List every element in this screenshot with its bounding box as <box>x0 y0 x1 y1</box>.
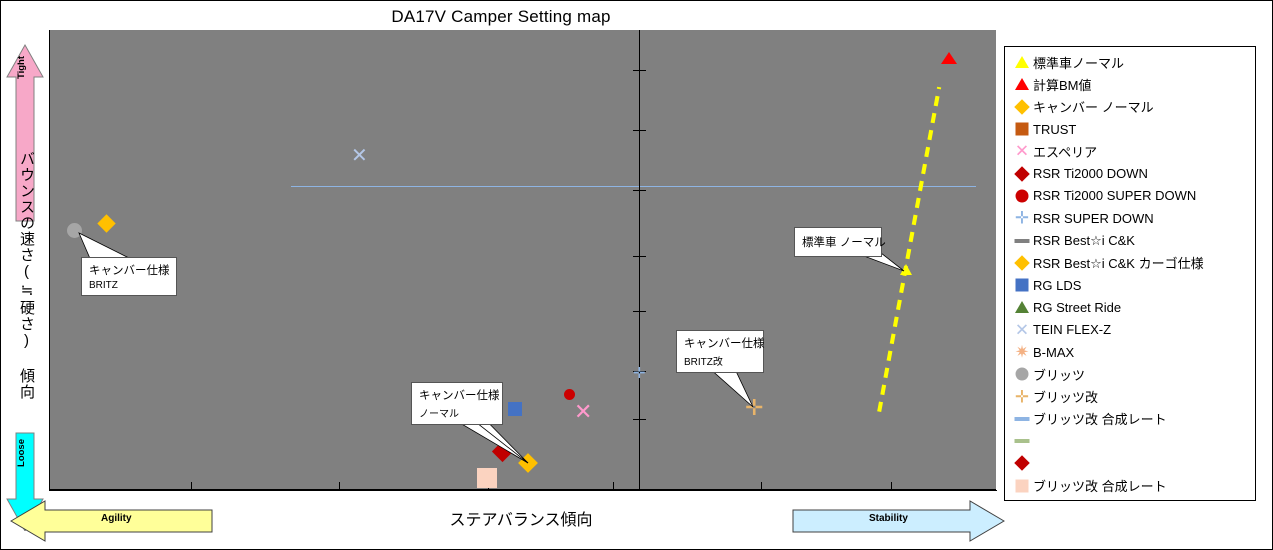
legend-item-label: RSR Ti2000 SUPER DOWN <box>1033 188 1196 203</box>
square-icon <box>1016 279 1029 292</box>
legend-item[interactable]: ブリッツ改 合成レート <box>1011 475 1255 497</box>
chart-root: DA17V Camper Setting map ✕ ✕ ✛ ✛ <box>0 0 1273 550</box>
legend-item[interactable]: ✛RSR SUPER DOWN <box>1011 207 1255 229</box>
legend-item[interactable]: ✛ブリッツ改 <box>1011 385 1255 407</box>
diamond-icon <box>1014 99 1030 115</box>
triangle-icon <box>1015 78 1029 90</box>
marker-standard-car-normal <box>900 264 912 275</box>
legend-marker-icon: ✕ <box>1011 320 1033 340</box>
y-axis-tight-label: Tight <box>16 56 27 79</box>
x-axis-stability-label: Stability <box>869 513 908 524</box>
legend-item-label: エスペリア <box>1033 142 1097 161</box>
legend-item-label: キャンバー ノーマル <box>1033 97 1154 116</box>
y-tick <box>633 130 646 131</box>
legend-item[interactable]: RSR Ti2000 SUPER DOWN <box>1011 185 1255 207</box>
marker-blitz-kai: ✛ <box>745 397 763 419</box>
y-tick <box>633 190 646 191</box>
legend-item-label: ブリッツ改 <box>1033 387 1098 406</box>
legend-marker-icon <box>1011 253 1033 273</box>
circle-icon <box>1016 189 1029 202</box>
marker-rg-lds <box>508 402 522 416</box>
legend-marker-icon <box>1011 186 1033 206</box>
legend-item[interactable]: キャンバー ノーマル <box>1011 96 1255 118</box>
dash-icon <box>1015 439 1030 443</box>
square-icon <box>1016 123 1029 136</box>
y-tick <box>633 419 646 420</box>
legend-marker-icon <box>1011 164 1033 184</box>
page-title: DA17V Camper Setting map <box>1 7 1001 27</box>
legend-item[interactable]: RSR Ti2000 DOWN <box>1011 162 1255 184</box>
y-tick <box>633 70 646 71</box>
legend-item-label: RSR SUPER DOWN <box>1033 211 1154 226</box>
legend-item-label: B-MAX <box>1033 345 1074 360</box>
y-axis-loose-label: Loose <box>16 439 27 467</box>
plus-icon: ✛ <box>1015 210 1029 227</box>
callout-line-2: BRITZ <box>89 280 170 291</box>
triangle-icon <box>1015 56 1029 68</box>
legend-marker-icon <box>1011 476 1033 496</box>
y-axis-title: バウンスの速さ(≒硬さ) 傾向 <box>7 151 37 400</box>
legend-item-label: TRUST <box>1033 122 1076 137</box>
legend-marker-icon <box>1011 275 1033 295</box>
callout-normal: キャンバー仕様 ノーマル <box>411 382 503 425</box>
callout-standard-car: 標準車 ノーマル <box>794 227 882 257</box>
legend-marker-icon: ✛ <box>1011 387 1033 407</box>
x-tick <box>191 482 192 491</box>
marker-tein-flex-z: ✕ <box>351 146 368 166</box>
legend-marker-icon <box>1011 453 1033 473</box>
legend-marker-icon <box>1011 74 1033 94</box>
marker-blitz-kai-gosei-rate <box>477 468 497 488</box>
x-tick <box>339 482 340 491</box>
x-axis-title: ステアバランス傾向 <box>381 506 661 530</box>
legend-item-label: ブリッツ <box>1033 365 1085 384</box>
callout-line-1: キャンバー仕様 <box>684 335 757 351</box>
legend-item[interactable]: ブリッツ <box>1011 363 1255 385</box>
legend-marker-icon: ✛ <box>1011 208 1033 228</box>
callout-britz: キャンバー仕様 BRITZ <box>81 257 177 296</box>
x-icon: ✕ <box>1015 321 1029 338</box>
legend-marker-icon: ✕ <box>1011 141 1033 161</box>
diamond-icon <box>1014 255 1030 271</box>
x-tick <box>613 482 614 491</box>
legend-item[interactable]: RSR Best☆i C&K カーゴ仕様 <box>1011 252 1255 274</box>
legend-marker-icon: ✷ <box>1011 342 1033 362</box>
callout-line-2: ノーマル <box>419 405 496 420</box>
legend-item[interactable]: ✕エスペリア <box>1011 140 1255 162</box>
marker-rsr-super-down: ✛ <box>633 366 646 381</box>
callout-britz-kai: キャンバー仕様 BRITZ改 <box>676 330 764 373</box>
x-icon: ✕ <box>1015 143 1029 160</box>
legend-marker-icon <box>1011 52 1033 72</box>
legend-marker-icon <box>1011 364 1033 384</box>
legend-item[interactable]: 標準車ノーマル <box>1011 51 1255 73</box>
legend-item[interactable] <box>1011 452 1255 474</box>
y-axis-line <box>639 30 640 491</box>
legend-item-label: TEIN FLEX-Z <box>1033 322 1111 337</box>
square-icon <box>1016 479 1029 492</box>
callout-line-1: キャンバー仕様 <box>89 262 170 278</box>
legend: 標準車ノーマル計算BM値キャンバー ノーマルTRUST✕エスペリアRSR Ti2… <box>1004 46 1256 501</box>
legend-item-label: 計算BM値 <box>1033 75 1092 94</box>
legend-marker-icon <box>1011 97 1033 117</box>
callout-line-2: BRITZ改 <box>684 353 757 368</box>
diamond-icon <box>1014 456 1030 472</box>
legend-item[interactable]: TRUST <box>1011 118 1255 140</box>
legend-item-label: RSR Best☆i C&K <box>1033 233 1135 249</box>
legend-item-label: ブリッツ改 合成レート <box>1033 476 1167 495</box>
legend-item[interactable]: ✕TEIN FLEX-Z <box>1011 319 1255 341</box>
legend-marker-icon <box>1011 409 1033 429</box>
plot-area <box>49 30 996 490</box>
callout-line-1: 標準車 ノーマル <box>802 234 875 250</box>
x-tick <box>891 482 892 491</box>
legend-item-label: RG LDS <box>1033 278 1081 293</box>
asterisk-icon: ✷ <box>1015 344 1029 361</box>
circle-icon <box>1016 368 1029 381</box>
plus-icon: ✛ <box>1015 388 1029 405</box>
legend-item[interactable]: ✷B-MAX <box>1011 341 1255 363</box>
marker-esperia: ✕ <box>574 401 592 423</box>
legend-item-label: RSR Best☆i C&K カーゴ仕様 <box>1033 253 1204 272</box>
triangle-icon <box>1015 301 1029 313</box>
y-tick <box>633 256 646 257</box>
legend-item[interactable]: RSR Best☆i C&K <box>1011 229 1255 251</box>
legend-item[interactable]: 計算BM値 <box>1011 73 1255 95</box>
diamond-icon <box>1014 166 1030 182</box>
marker-calc-bm <box>941 52 957 64</box>
x-tick <box>761 482 762 491</box>
legend-item[interactable] <box>1011 430 1255 452</box>
legend-marker-icon <box>1011 297 1033 317</box>
legend-item-label: RSR Ti2000 DOWN <box>1033 166 1148 181</box>
marker-blitz <box>67 223 82 238</box>
legend-item-label: ブリッツ改 合成レート <box>1033 409 1167 428</box>
legend-item[interactable]: RG Street Ride <box>1011 296 1255 318</box>
legend-marker-icon <box>1011 431 1033 451</box>
legend-item-label: 標準車ノーマル <box>1033 53 1124 72</box>
legend-item[interactable]: RG LDS <box>1011 274 1255 296</box>
legend-marker-icon <box>1011 119 1033 139</box>
y-tick <box>633 311 646 312</box>
legend-item-label: RG Street Ride <box>1033 300 1121 315</box>
legend-marker-icon <box>1011 231 1033 251</box>
callout-line-1: キャンバー仕様 <box>419 387 496 403</box>
x-axis-agility-label: Agility <box>101 513 132 524</box>
dash-icon <box>1015 417 1030 421</box>
legend-item[interactable]: ブリッツ改 合成レート <box>1011 408 1255 430</box>
dash-icon <box>1015 239 1030 243</box>
